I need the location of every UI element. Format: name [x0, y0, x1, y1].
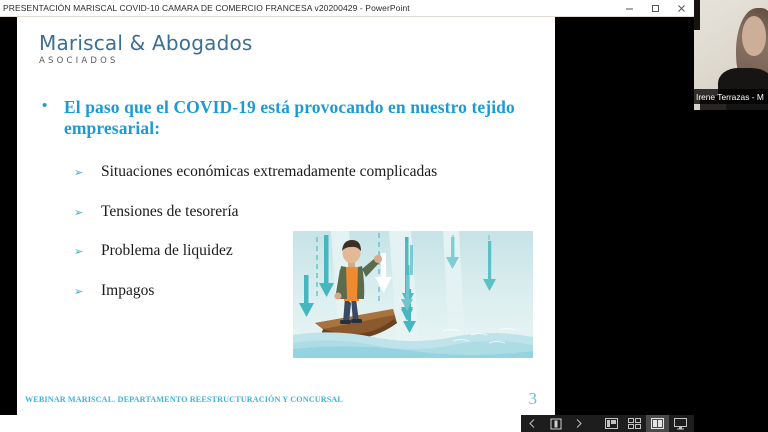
list-item-label: Problema de liquidez — [101, 242, 233, 260]
minimize-icon[interactable] — [616, 0, 642, 16]
next-slide-button[interactable] — [567, 415, 590, 432]
list-item: ➢ Situaciones económicas extremadamente … — [74, 163, 534, 182]
screen: PRESENTACIÓN MARISCAL COVID-10 CAMARA DE… — [0, 0, 768, 432]
slide-thumbnail-button[interactable] — [544, 415, 567, 432]
statusbar-blank-area — [0, 415, 521, 432]
participant-name-bar: Irene Terrazas - M — [694, 89, 768, 104]
logo-company-name: Mariscal & Abogados — [39, 33, 253, 53]
powerpoint-window: PRESENTACIÓN MARISCAL COVID-10 CAMARA DE… — [0, 0, 694, 432]
statusbar-tools — [521, 415, 692, 432]
slide-illustration-image — [293, 231, 533, 358]
video-dark-edge — [694, 0, 700, 30]
arrow-bullet-icon: ➢ — [74, 204, 101, 222]
slideshow-button[interactable] — [669, 415, 692, 432]
normal-view-button[interactable] — [600, 415, 623, 432]
participant-face — [742, 16, 766, 56]
previous-slide-button[interactable] — [521, 415, 544, 432]
slide-heading: • El paso que el COVID-19 está provocand… — [39, 97, 539, 139]
slide-canvas[interactable]: Mariscal & Abogados ASOCIADOS • El paso … — [17, 17, 555, 415]
window-controls — [616, 0, 694, 16]
powerpoint-statusbar — [0, 415, 694, 432]
heading-text: El paso que el COVID-19 está provocando … — [64, 97, 539, 139]
participant-name: Irene Terrazas - M — [694, 92, 764, 102]
video-panel: Irene Terrazas - M — [694, 0, 768, 432]
list-item-label: Impagos — [101, 282, 154, 300]
window-title: PRESENTACIÓN MARISCAL COVID-10 CAMARA DE… — [0, 3, 410, 13]
slide-gutter-left — [0, 17, 17, 415]
video-panel-empty-area — [694, 110, 768, 432]
heading-bullet-icon: • — [39, 97, 64, 114]
statusbar-separator — [590, 415, 600, 432]
participant-video-feed[interactable]: Irene Terrazas - M — [694, 0, 768, 110]
list-item-label: Situaciones económicas extremadamente co… — [101, 163, 437, 181]
slide-sorter-button[interactable] — [623, 415, 646, 432]
arrow-bullet-icon: ➢ — [74, 243, 101, 261]
window-titlebar[interactable]: PRESENTACIÓN MARISCAL COVID-10 CAMARA DE… — [0, 0, 694, 17]
company-logo: Mariscal & Abogados ASOCIADOS — [39, 33, 253, 66]
slide-gutter-right — [555, 17, 694, 415]
reading-view-button[interactable] — [646, 415, 669, 432]
arrow-bullet-icon: ➢ — [74, 164, 101, 182]
slide-number: 3 — [529, 389, 538, 409]
arrow-bullet-icon: ➢ — [74, 283, 101, 301]
list-item: ➢ Tensiones de tesorería — [74, 203, 534, 222]
logo-subtitle: ASOCIADOS — [39, 57, 253, 66]
restore-icon[interactable] — [642, 0, 668, 16]
list-item-label: Tensiones de tesorería — [101, 203, 239, 221]
slide-footer-note: WEBINAR MARISCAL. DEPARTAMENTO REESTRUCT… — [25, 395, 343, 404]
close-icon[interactable] — [668, 0, 694, 16]
